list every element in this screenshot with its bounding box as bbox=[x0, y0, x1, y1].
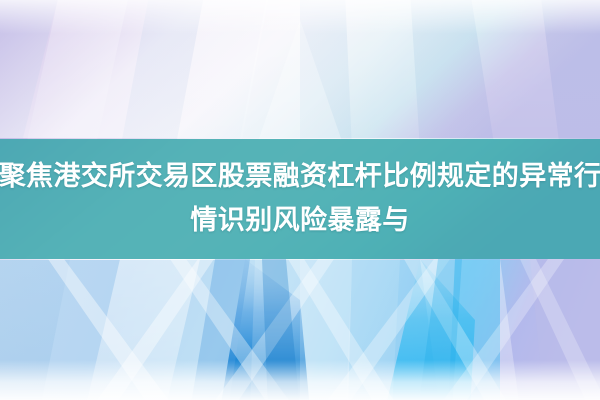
title-line-2: 情识别风险暴露与 bbox=[190, 199, 409, 243]
title-line-1: 聚焦港交所交易区股票融资杠杆比例规定的异常行 bbox=[0, 155, 600, 199]
caption-band: 聚焦港交所交易区股票融资杠杆比例规定的异常行 情识别风险暴露与 bbox=[0, 139, 600, 259]
banner-image: 聚焦港交所交易区股票融资杠杆比例规定的异常行 情识别风险暴露与 bbox=[0, 0, 600, 400]
